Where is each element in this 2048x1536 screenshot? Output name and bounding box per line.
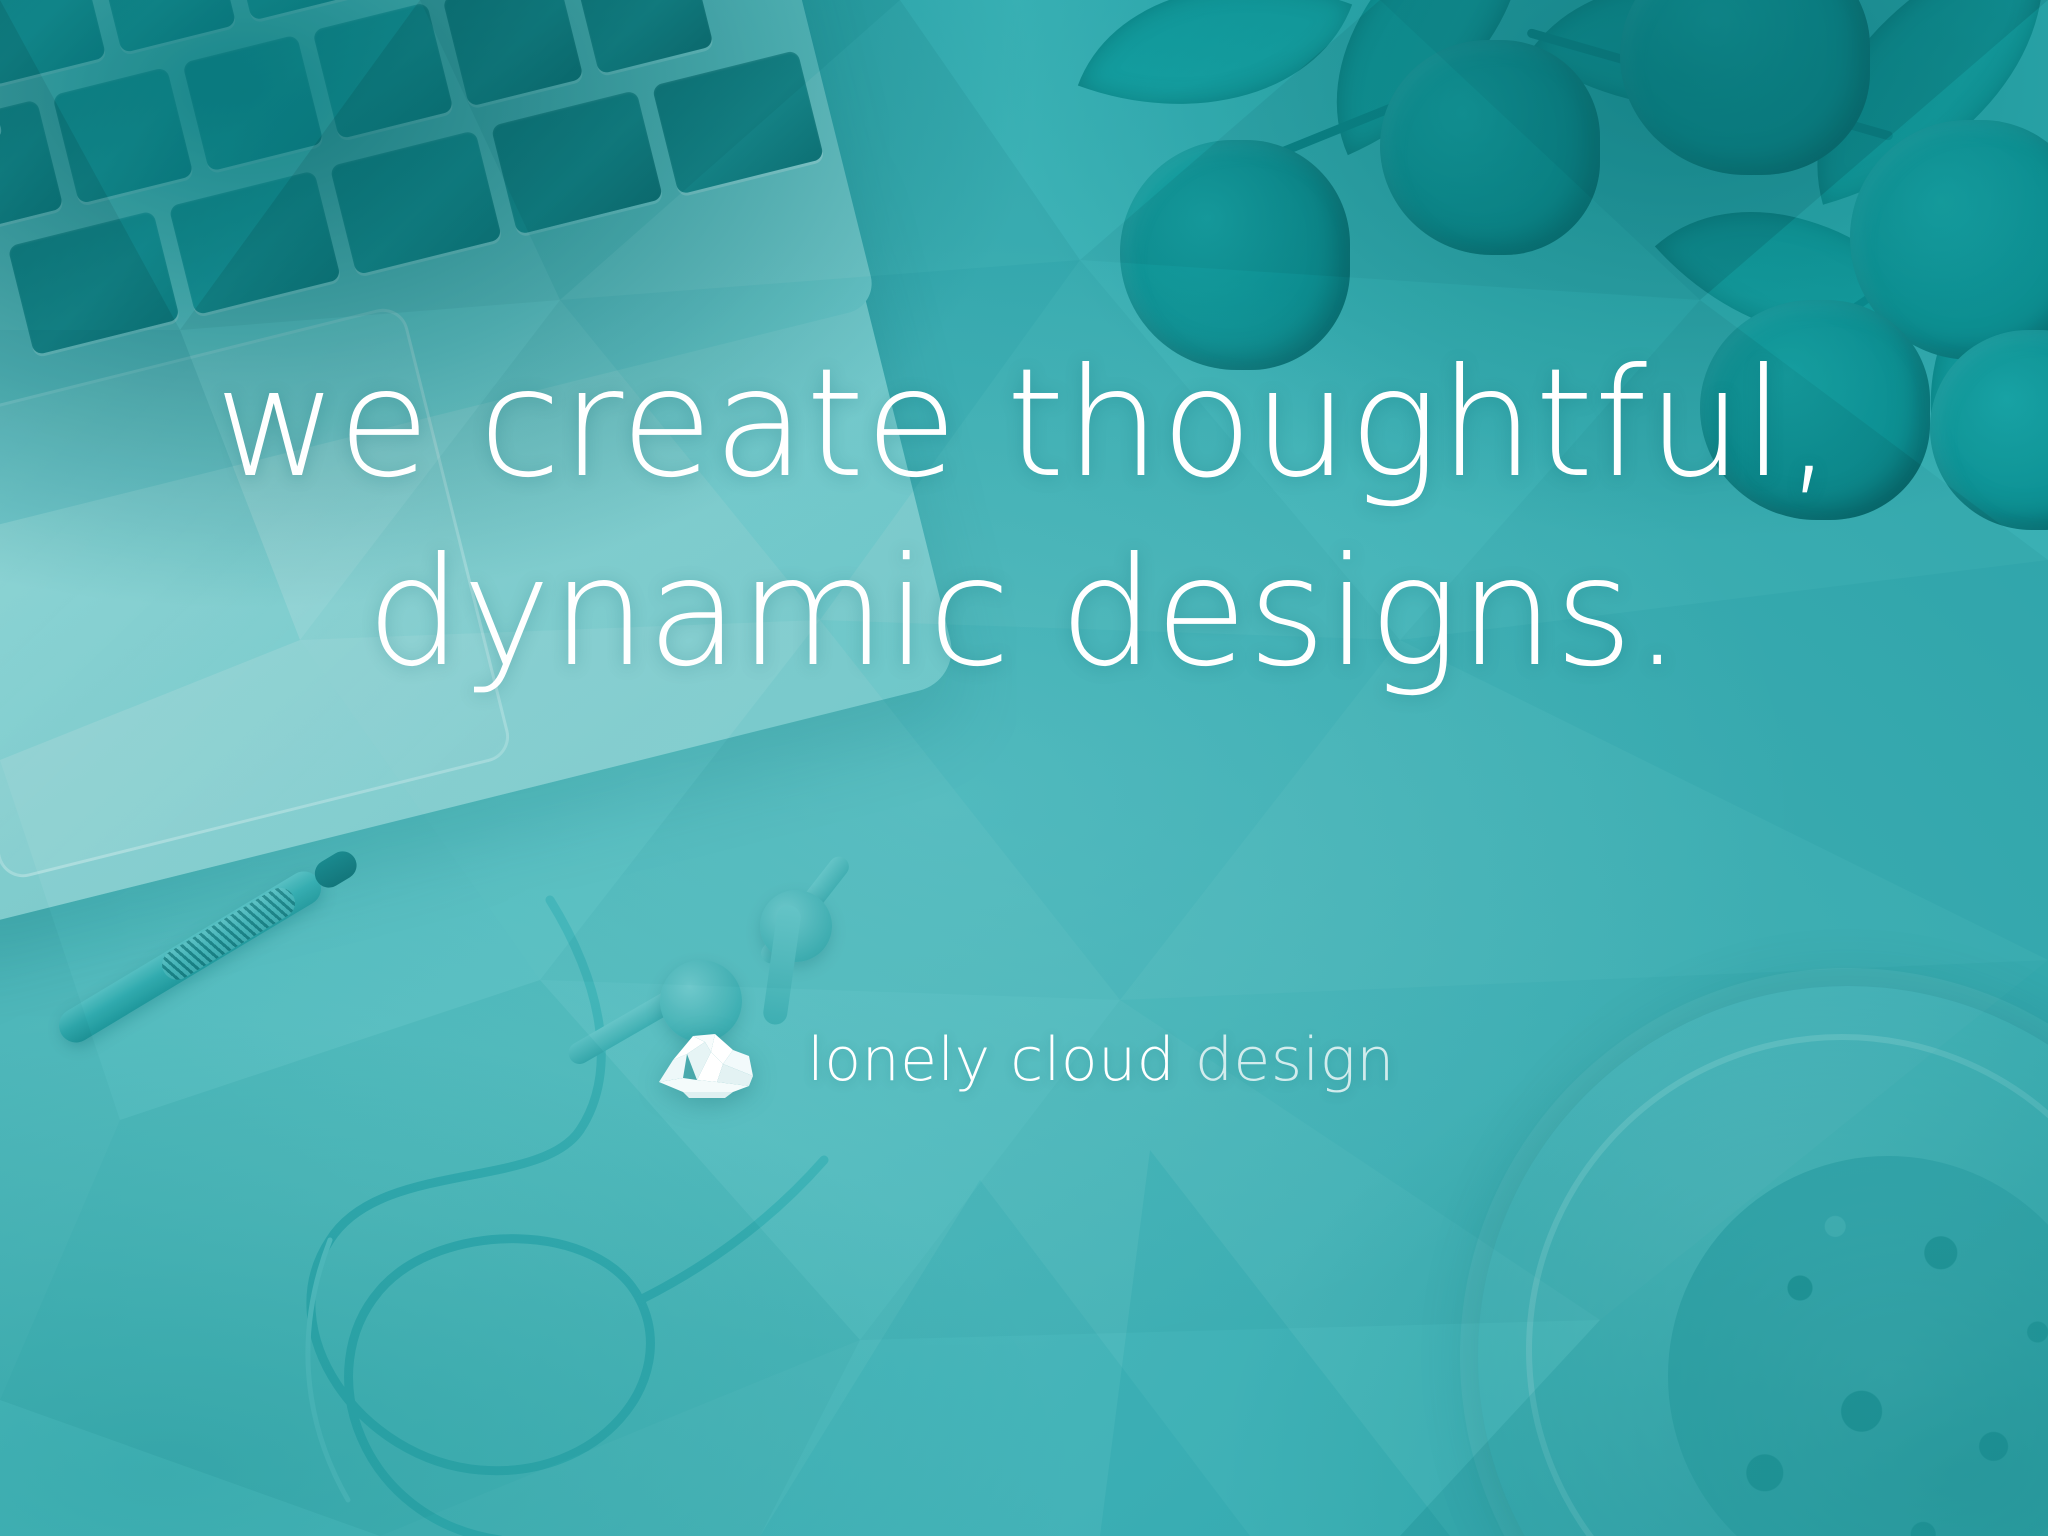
hero-banner: NMKL<>;'?/:|PO\u2190 [0,0,2048,1536]
brand-wordmark: lonely cloud design [807,1025,1395,1095]
hero-content: we create thoughtful, dynamic designs. l… [0,0,2048,1536]
brand-lockup: lonely cloud design [0,1020,2048,1100]
cloud-icon [653,1020,771,1100]
brand-name-primary: lonely cloud [807,1025,1175,1095]
brand-name-secondary: design [1195,1025,1395,1095]
page-title: we create thoughtful, dynamic designs. [0,330,2048,708]
headline-line-1: we create thoughtful, [60,330,1988,519]
headline-line-2: dynamic designs. [60,519,1988,708]
